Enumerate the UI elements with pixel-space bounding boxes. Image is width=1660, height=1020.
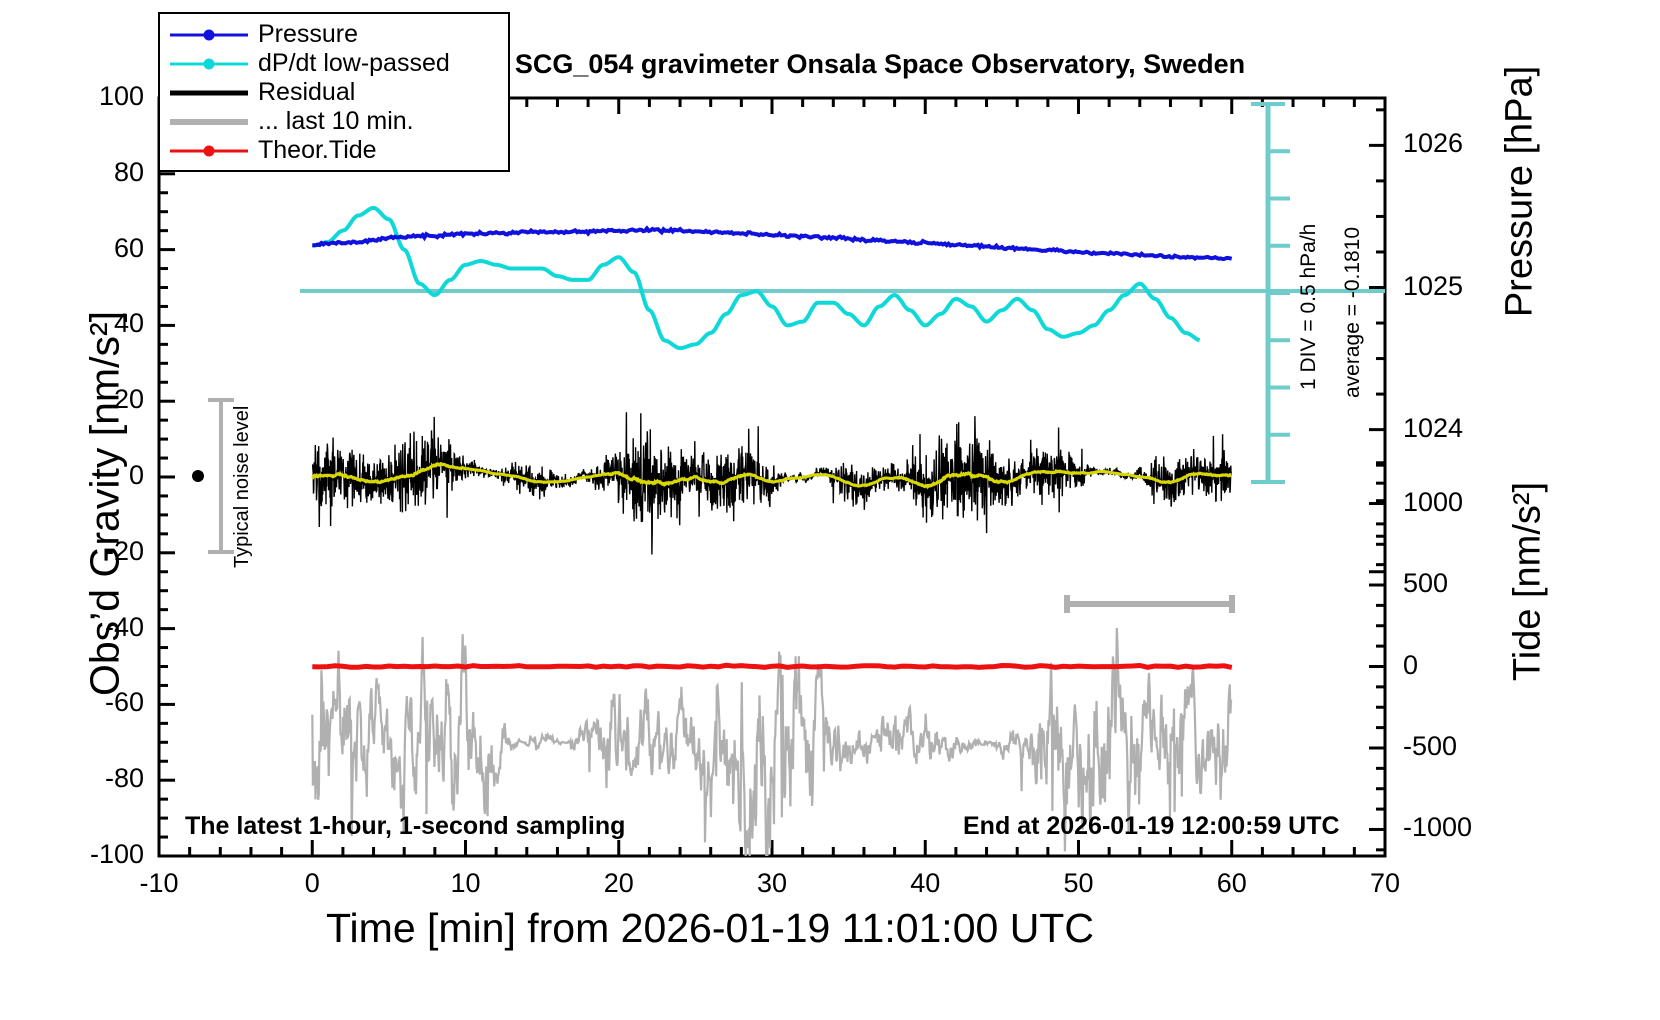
series-pressure <box>312 229 1231 260</box>
annotation-bottom-left: The latest 1-hour, 1-second sampling <box>185 812 625 841</box>
x-tick-label: 50 <box>1029 868 1129 899</box>
y-left-tick-label: 20 <box>24 384 144 415</box>
annotation-average: average = -0.1810 <box>1341 227 1365 398</box>
y-left-tick-label: 100 <box>24 81 144 112</box>
legend-item[interactable]: dP/dt low-passed <box>170 49 498 78</box>
legend-label: ... last 10 min. <box>258 107 414 136</box>
legend-swatch-icon <box>170 83 248 103</box>
x-tick-label: 30 <box>722 868 822 899</box>
y-axis-tide-label: Tide [nm/s²] <box>1507 382 1550 782</box>
legend-item[interactable]: Theor.Tide <box>170 136 498 165</box>
y-left-tick-label: 40 <box>24 308 144 339</box>
annotation-bottom-right: End at 2026-01-19 12:00:59 UTC <box>963 812 1340 841</box>
y-pressure-tick-label: 1026 <box>1403 128 1463 159</box>
legend-label: Residual <box>258 78 355 107</box>
y-axis-right-ticks <box>1369 110 1385 850</box>
legend-swatch-icon <box>170 141 248 161</box>
legend-swatch-icon <box>170 54 248 74</box>
y-tide-tick-label: 500 <box>1403 568 1448 599</box>
legend: PressuredP/dt low-passedResidual... last… <box>158 12 510 172</box>
plot-figure: SCG_054 gravimeter Onsala Space Observat… <box>0 0 1660 1020</box>
annotation-typical-noise-level: Typical noise level <box>231 406 254 568</box>
y-left-tick-label: -60 <box>24 687 144 718</box>
y-tide-tick-label: 0 <box>1403 650 1418 681</box>
legend-label: dP/dt low-passed <box>258 49 450 78</box>
legend-item[interactable]: Pressure <box>170 20 498 49</box>
x-tick-label: 60 <box>1182 868 1282 899</box>
x-axis-label: Time [min] from 2026-01-19 11:01:00 UTC <box>0 905 1420 952</box>
x-tick-label: -10 <box>109 868 209 899</box>
legend-label: Pressure <box>258 20 358 49</box>
y-left-tick-label: -100 <box>24 839 144 870</box>
y-tide-tick-label: 1000 <box>1403 487 1463 518</box>
x-tick-label: 40 <box>875 868 975 899</box>
y-axis-left-ticks <box>159 98 175 856</box>
y-left-tick-label: 80 <box>24 157 144 188</box>
typical-noise-level-marker <box>192 400 234 552</box>
legend-item[interactable]: Residual <box>170 78 498 107</box>
y-left-tick-label: -80 <box>24 763 144 794</box>
annotation-div-scale: 1 DIV = 0.5 hPa/h <box>1297 224 1321 390</box>
y-pressure-tick-label: 1025 <box>1403 271 1463 302</box>
page-title: SCG_054 gravimeter Onsala Space Observat… <box>380 49 1380 80</box>
legend-item[interactable]: ... last 10 min. <box>170 107 498 136</box>
x-tick-label: 70 <box>1335 868 1435 899</box>
x-tick-label: 20 <box>569 868 669 899</box>
y-pressure-tick-label: 1024 <box>1403 413 1463 444</box>
legend-swatch-icon <box>170 25 248 45</box>
y-left-tick-label: 0 <box>24 460 144 491</box>
x-tick-label: 10 <box>416 868 516 899</box>
y-left-tick-label: 60 <box>24 233 144 264</box>
y-left-tick-label: -20 <box>24 536 144 567</box>
legend-label: Theor.Tide <box>258 136 377 165</box>
series-theor-tide <box>312 665 1232 667</box>
x-tick-label: 0 <box>262 868 362 899</box>
series-dpdt <box>312 208 1199 348</box>
last-10-min-span-bar <box>1067 595 1232 613</box>
legend-swatch-icon <box>170 112 248 132</box>
y-axis-pressure-label: Pressure [hPa] <box>1499 0 1542 392</box>
y-tide-tick-label: -1000 <box>1403 812 1472 843</box>
y-left-tick-label: -40 <box>24 612 144 643</box>
y-tide-tick-label: -500 <box>1403 731 1457 762</box>
